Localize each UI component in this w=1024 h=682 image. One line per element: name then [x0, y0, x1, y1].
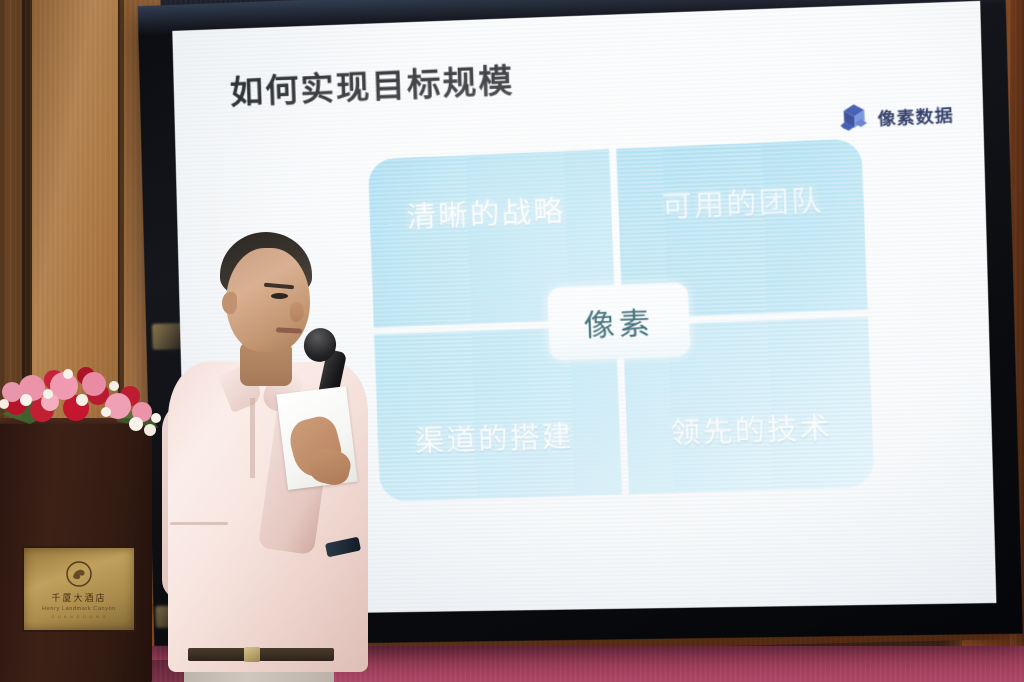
quadrant-label-strategy: 清晰的战略 — [406, 188, 566, 237]
plaque-name-cn: 千厦大酒店 — [51, 591, 106, 604]
quadrant-label-channel: 渠道的搭建 — [414, 413, 574, 461]
podium-plaque: 千厦大酒店 Henry Landmark Canyon G U A N G D … — [22, 546, 136, 632]
slide-title: 如何实现目标规模 — [229, 54, 515, 114]
speaker-ear — [222, 292, 237, 314]
quadrant-label-technology: 领先的技术 — [669, 404, 832, 452]
quadrant-label-team: 可用的团队 — [661, 177, 824, 226]
speaker-head — [226, 248, 310, 352]
speaker-belt — [188, 648, 334, 661]
speaker-sleeve-hem — [170, 522, 228, 525]
quadrant-center-card: 像素 — [547, 282, 690, 360]
brand-logo: 像素数据 — [838, 98, 954, 135]
hotel-crest-icon — [64, 559, 94, 589]
plaque-subtitle: G U A N G D O N G — [51, 614, 107, 619]
cube-logo-icon — [838, 102, 871, 134]
speaker-presenter — [140, 222, 400, 682]
plaque-name-en: Henry Landmark Canyon — [42, 606, 116, 612]
quadrant-center-label: 像素 — [583, 298, 655, 345]
quadrant-diagram: 清晰的战略 可用的团队 渠道的搭建 领先的技术 像素 — [368, 138, 875, 502]
speaker-shirt-placket — [250, 398, 255, 478]
presentation-room-photo: 如何实现目标规模 像素数据 清晰的战略 — [0, 0, 1024, 682]
brand-name: 像素数据 — [877, 100, 954, 130]
speaker-belt-buckle — [244, 647, 260, 662]
speaker-eye — [271, 293, 288, 299]
